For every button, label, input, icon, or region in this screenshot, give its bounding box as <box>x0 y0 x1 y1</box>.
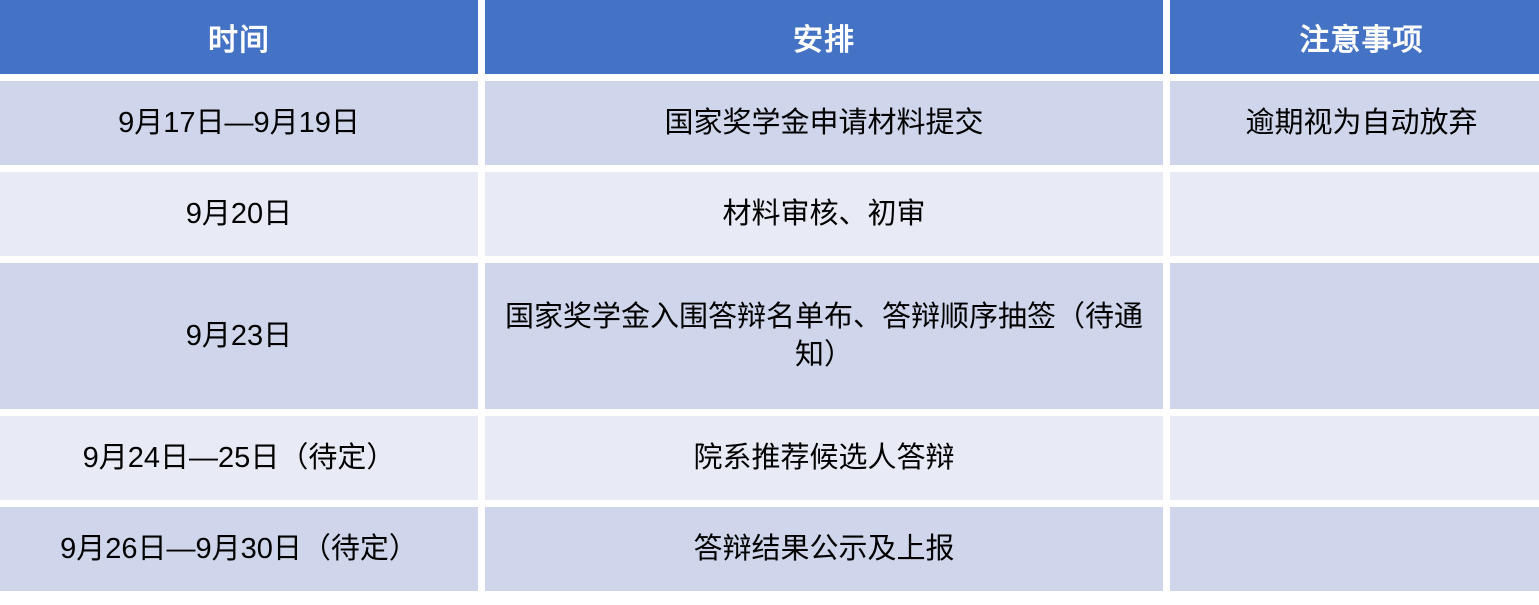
cell-time: 9月26日—9月30日（待定） <box>0 507 478 591</box>
cell-time: 9月24日—25日（待定） <box>0 416 478 500</box>
cell-plan: 材料审核、初审 <box>485 172 1163 256</box>
schedule-table: 时间 安排 注意事项 9月17日—9月19日 国家奖学金申请材料提交 逾期视为自… <box>0 0 1539 598</box>
cell-notes <box>1170 263 1539 410</box>
cell-time: 9月23日 <box>0 263 478 410</box>
column-header-notes: 注意事项 <box>1170 0 1539 74</box>
column-header-time: 时间 <box>0 0 478 74</box>
cell-notes <box>1170 416 1539 500</box>
table-row: 9月24日—25日（待定） 院系推荐候选人答辩 <box>0 416 1539 500</box>
table-row: 9月20日 材料审核、初审 <box>0 172 1539 256</box>
column-header-plan: 安排 <box>485 0 1163 74</box>
cell-plan: 院系推荐候选人答辩 <box>485 416 1163 500</box>
cell-time: 9月20日 <box>0 172 478 256</box>
cell-notes <box>1170 172 1539 256</box>
cell-notes <box>1170 507 1539 591</box>
cell-plan: 答辩结果公示及上报 <box>485 507 1163 591</box>
table-row: 9月17日—9月19日 国家奖学金申请材料提交 逾期视为自动放弃 <box>0 81 1539 165</box>
cell-time: 9月17日—9月19日 <box>0 81 478 165</box>
cell-plan: 国家奖学金申请材料提交 <box>485 81 1163 165</box>
table-header: 时间 安排 注意事项 <box>0 0 1539 74</box>
table-row: 9月23日 国家奖学金入围答辩名单布、答辩顺序抽签（待通知） <box>0 263 1539 410</box>
cell-notes: 逾期视为自动放弃 <box>1170 81 1539 165</box>
table-body: 9月17日—9月19日 国家奖学金申请材料提交 逾期视为自动放弃 9月20日 材… <box>0 81 1539 591</box>
table-row: 9月26日—9月30日（待定） 答辩结果公示及上报 <box>0 507 1539 591</box>
cell-plan: 国家奖学金入围答辩名单布、答辩顺序抽签（待通知） <box>485 263 1163 410</box>
table-header-row: 时间 安排 注意事项 <box>0 0 1539 74</box>
